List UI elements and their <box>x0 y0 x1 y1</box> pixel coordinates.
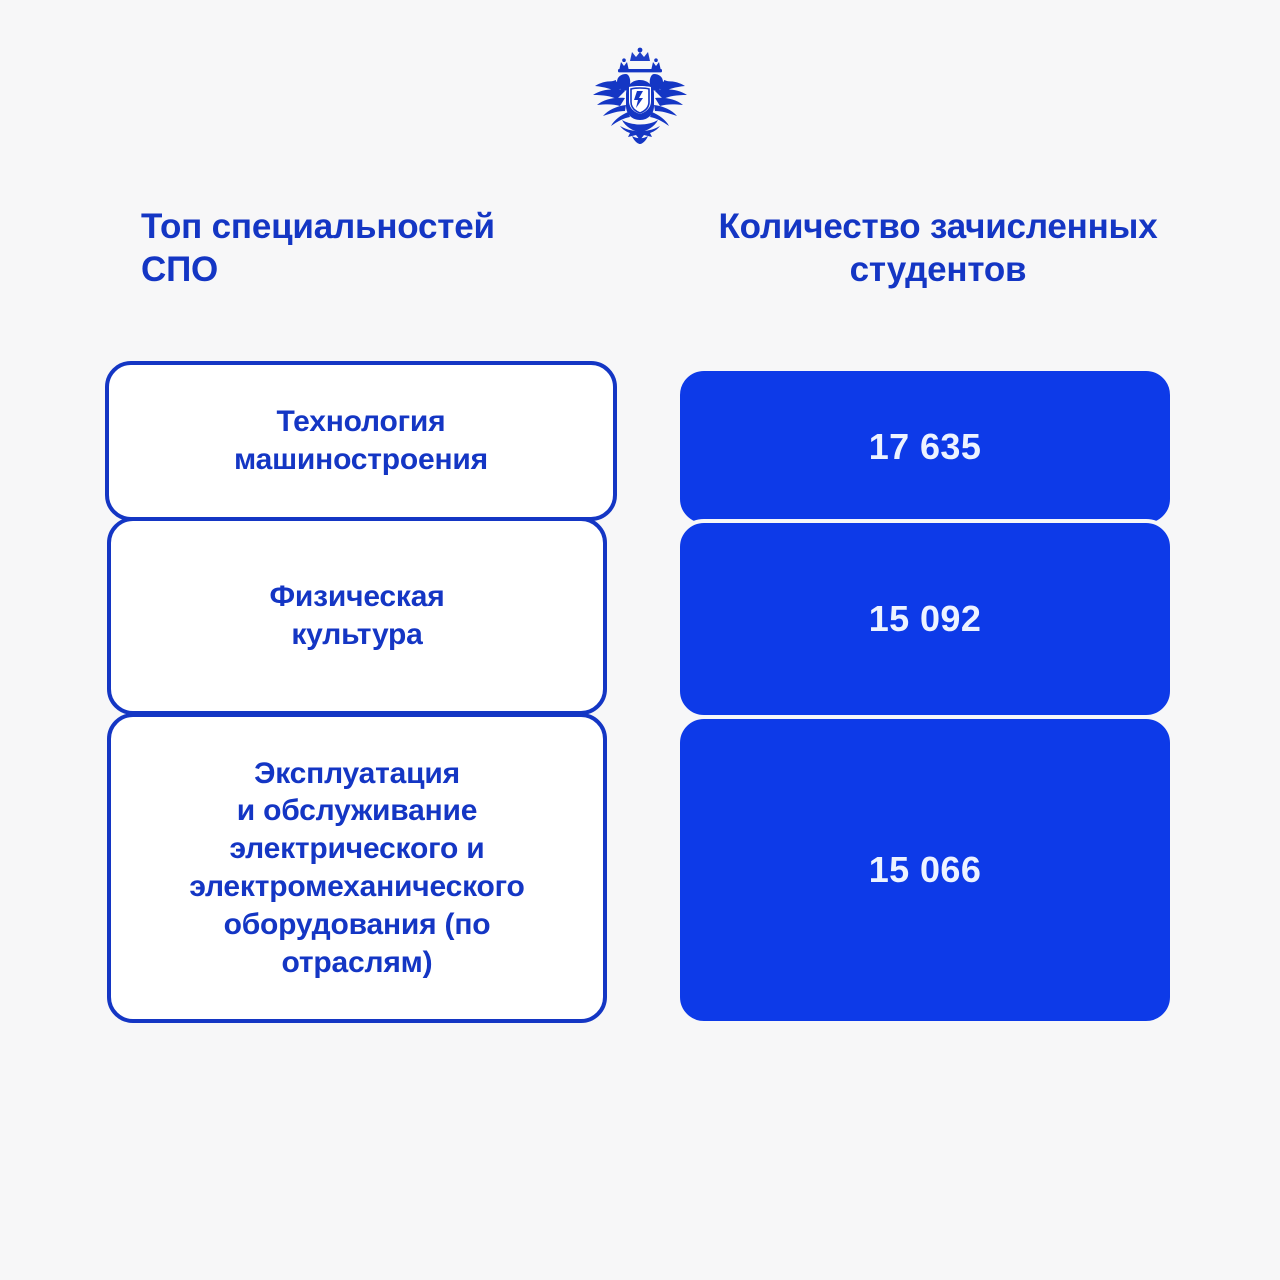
count-card[interactable]: 15 066 <box>676 715 1174 1025</box>
count-value: 17 635 <box>869 426 982 468</box>
count-card[interactable]: 15 092 <box>676 519 1174 719</box>
specialty-card[interactable]: Физическая культура <box>107 517 607 715</box>
count-value: 15 066 <box>869 849 982 891</box>
specialty-card[interactable]: Технология машиностроения <box>105 361 617 521</box>
specialty-label: Технология машиностроения <box>234 403 488 479</box>
specialty-label: Эксплуатация и обслуживание электрическо… <box>189 755 524 982</box>
specialty-label: Физическая культура <box>270 578 445 654</box>
count-card[interactable]: 17 635 <box>676 367 1174 527</box>
count-value: 15 092 <box>869 598 982 640</box>
specialty-card[interactable]: Эксплуатация и обслуживание электрическо… <box>107 713 607 1023</box>
comparison-board: Технология машиностроения Физическая кул… <box>0 0 1280 1280</box>
